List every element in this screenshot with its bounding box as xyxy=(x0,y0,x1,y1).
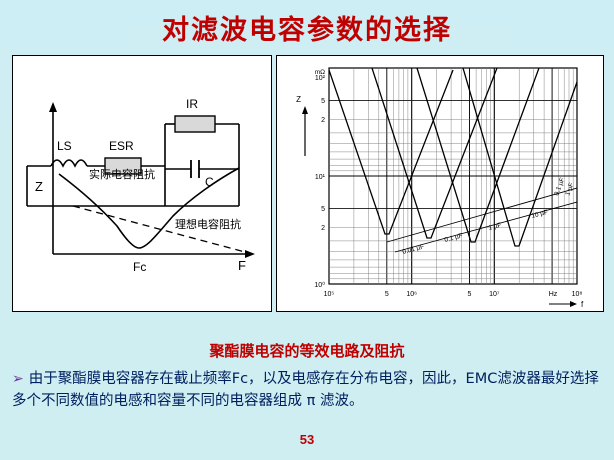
y-tick-2: 2 xyxy=(321,117,325,124)
y-tick-6: 10⁰ xyxy=(314,281,325,289)
label-ls: LS xyxy=(57,139,72,153)
label-esr: ESR xyxy=(109,139,134,153)
annotation-ideal-impedance: 理想电容阻抗 xyxy=(175,217,241,231)
bullet-text: 由于聚酯膜电容器存在截止频率Fc，以及电感存在分布电容，因此，EMC滤波器最好选… xyxy=(12,371,599,409)
bullet-arrow-icon: ➢ xyxy=(12,371,24,387)
slide-root: 对滤波电容参数的选择 xyxy=(0,0,614,460)
y-tick-1: 5 xyxy=(321,98,325,105)
label-ir: IR xyxy=(186,97,198,111)
y-tick-5: 2 xyxy=(321,225,325,232)
y-tick-4: 5 xyxy=(321,206,325,213)
y-tick-0: 10² xyxy=(315,75,326,82)
graph-y-axis-label: Z xyxy=(35,179,43,194)
page-number: 53 xyxy=(0,432,614,447)
impedance-chart-svg: 0.01 µF 0.1 µF 1 µF 10 µF 0.1 µF 1 µF mΩ… xyxy=(277,56,601,309)
graph-fc-tick: Fc xyxy=(133,260,146,274)
y-tick-3: 10¹ xyxy=(315,174,326,181)
x-tick-0: 10⁵ xyxy=(324,291,335,298)
page-title: 对滤波电容参数的选择 xyxy=(0,8,614,47)
x-tick-5: 10⁸ xyxy=(572,291,583,298)
bullet-paragraph: ➢由于聚酯膜电容器存在截止频率Fc，以及电感存在分布电容，因此，EMC滤波器最好… xyxy=(12,368,604,412)
chart-x-axis-name: f xyxy=(581,300,584,309)
x-unit-label: Hz xyxy=(549,291,558,298)
x-tick-4: 10⁷ xyxy=(489,291,500,298)
left-figure-panel: LS ESR IR C Z F Fc 实际电容阻抗 理想电容阻抗 xyxy=(12,55,272,312)
graph-x-axis-label: F xyxy=(238,258,246,273)
x-tick-1: 5 xyxy=(385,291,389,298)
figure-caption: 聚酯膜电容的等效电路及阻抗 xyxy=(0,340,614,361)
left-figure-svg: LS ESR IR C Z F Fc 实际电容阻抗 理想电容阻抗 xyxy=(13,56,269,309)
annotation-real-impedance: 实际电容阻抗 xyxy=(89,167,155,181)
right-chart-panel: 0.01 µF 0.1 µF 1 µF 10 µF 0.1 µF 1 µF mΩ… xyxy=(276,55,604,312)
x-tick-3: 5 xyxy=(468,291,472,298)
x-tick-2: 10⁶ xyxy=(406,291,417,298)
chart-y-axis-name: Z xyxy=(296,95,301,104)
